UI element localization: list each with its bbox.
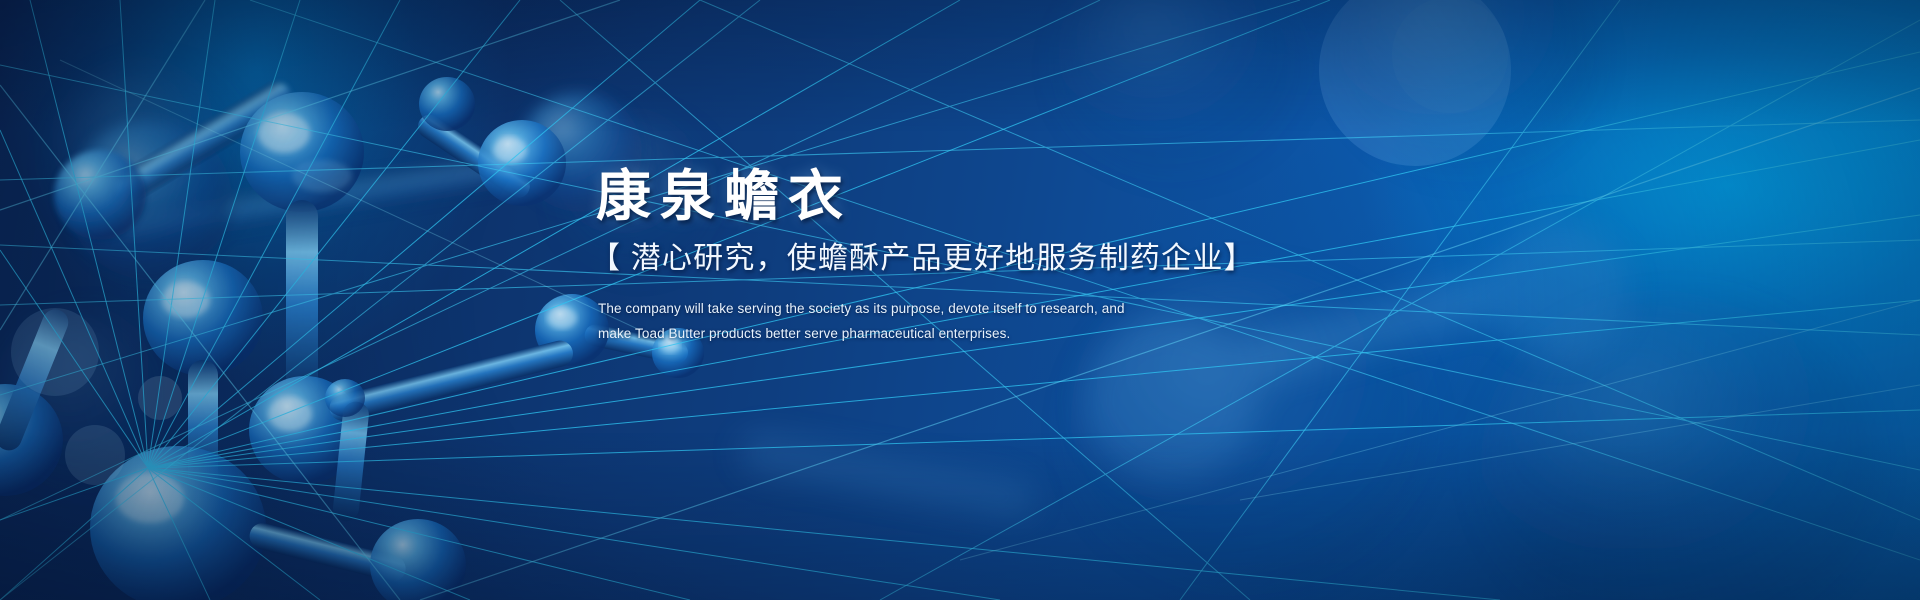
description-line-2: make Toad Butter products better serve p… <box>598 321 1796 346</box>
hero-banner: 康泉蟾衣 【 潜心研究，使蟾酥产品更好地服务制药企业】 The company … <box>0 0 1920 600</box>
page-title: 康泉蟾衣 <box>596 166 1796 226</box>
hero-text-block: 康泉蟾衣 【 潜心研究，使蟾酥产品更好地服务制药企业】 The company … <box>596 166 1796 346</box>
description-line-1: The company will take serving the societ… <box>598 296 1796 321</box>
page-subtitle: 【 潜心研究，使蟾酥产品更好地服务制药企业】 <box>590 242 1796 276</box>
page-description: The company will take serving the societ… <box>598 296 1796 346</box>
